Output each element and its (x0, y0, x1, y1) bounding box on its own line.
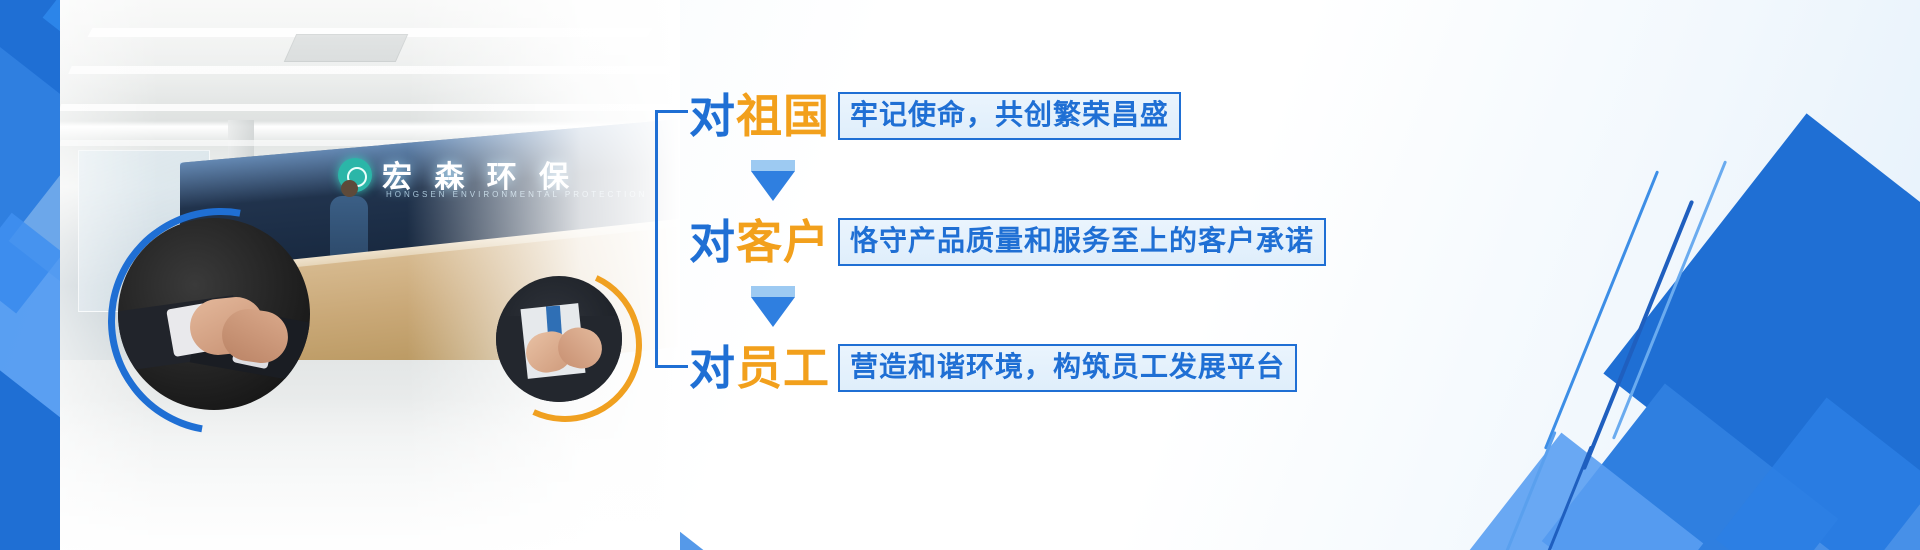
value-row-employee: 对员工 营造和谐环境，构筑员工发展平台 (689, 344, 1297, 392)
value-row-customer: 对客户 恪守产品质量和服务至上的客户承诺 (689, 218, 1326, 266)
value-statement-customer: 恪守产品质量和服务至上的客户承诺 (838, 218, 1326, 266)
bracket-connector (655, 110, 692, 368)
decor-line-1 (1544, 170, 1659, 449)
values-list: 对祖国 牢记使命，共创繁荣昌盛 对客户 恪守产品质量和服务至上的客户承诺 对员工… (655, 78, 1355, 398)
value-statement-employee: 营造和谐环境，构筑员工发展平台 (838, 344, 1297, 392)
value-lead-customer: 对客户 (689, 219, 830, 265)
handshake-photo (118, 218, 310, 410)
value-lead-prefix: 对 (689, 342, 736, 394)
value-lead-prefix: 对 (689, 90, 736, 142)
value-statement-country: 牢记使命，共创繁荣昌盛 (838, 92, 1181, 140)
company-values-banner: 宏 森 环 保 HONGSEN ENVIRONMENTAL PROTECTION (0, 0, 1920, 550)
value-lead-country: 对祖国 (689, 93, 830, 139)
value-lead-employee: 对员工 (689, 345, 830, 391)
chevron-down-icon (751, 286, 795, 327)
value-lead-target: 员工 (736, 342, 830, 394)
value-lead-target: 客户 (736, 216, 830, 268)
business-gesture-photo (496, 276, 622, 402)
value-row-country: 对祖国 牢记使命，共创繁荣昌盛 (689, 92, 1181, 140)
value-lead-target: 祖国 (736, 90, 830, 142)
value-lead-prefix: 对 (689, 216, 736, 268)
chevron-down-icon (751, 160, 795, 201)
